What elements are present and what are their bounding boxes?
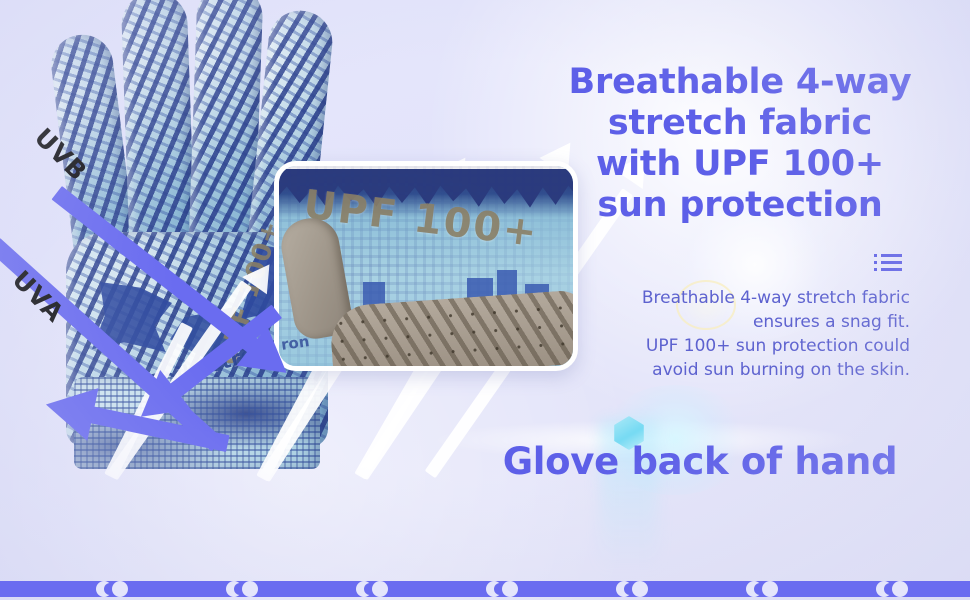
strip-notch bbox=[502, 581, 518, 597]
bottom-decorative-strip bbox=[0, 578, 970, 600]
product-feature-banner: UPF 100+ Seibertron UPF 100+ ron bbox=[0, 0, 970, 600]
strip-notch bbox=[112, 581, 128, 597]
strip-notch bbox=[632, 581, 648, 597]
strip-bar bbox=[0, 581, 970, 597]
strip-notch bbox=[372, 581, 388, 597]
strip-notch bbox=[762, 581, 778, 597]
strip-notch bbox=[242, 581, 258, 597]
strip-notch bbox=[892, 581, 908, 597]
vignette-overlay bbox=[0, 0, 970, 600]
